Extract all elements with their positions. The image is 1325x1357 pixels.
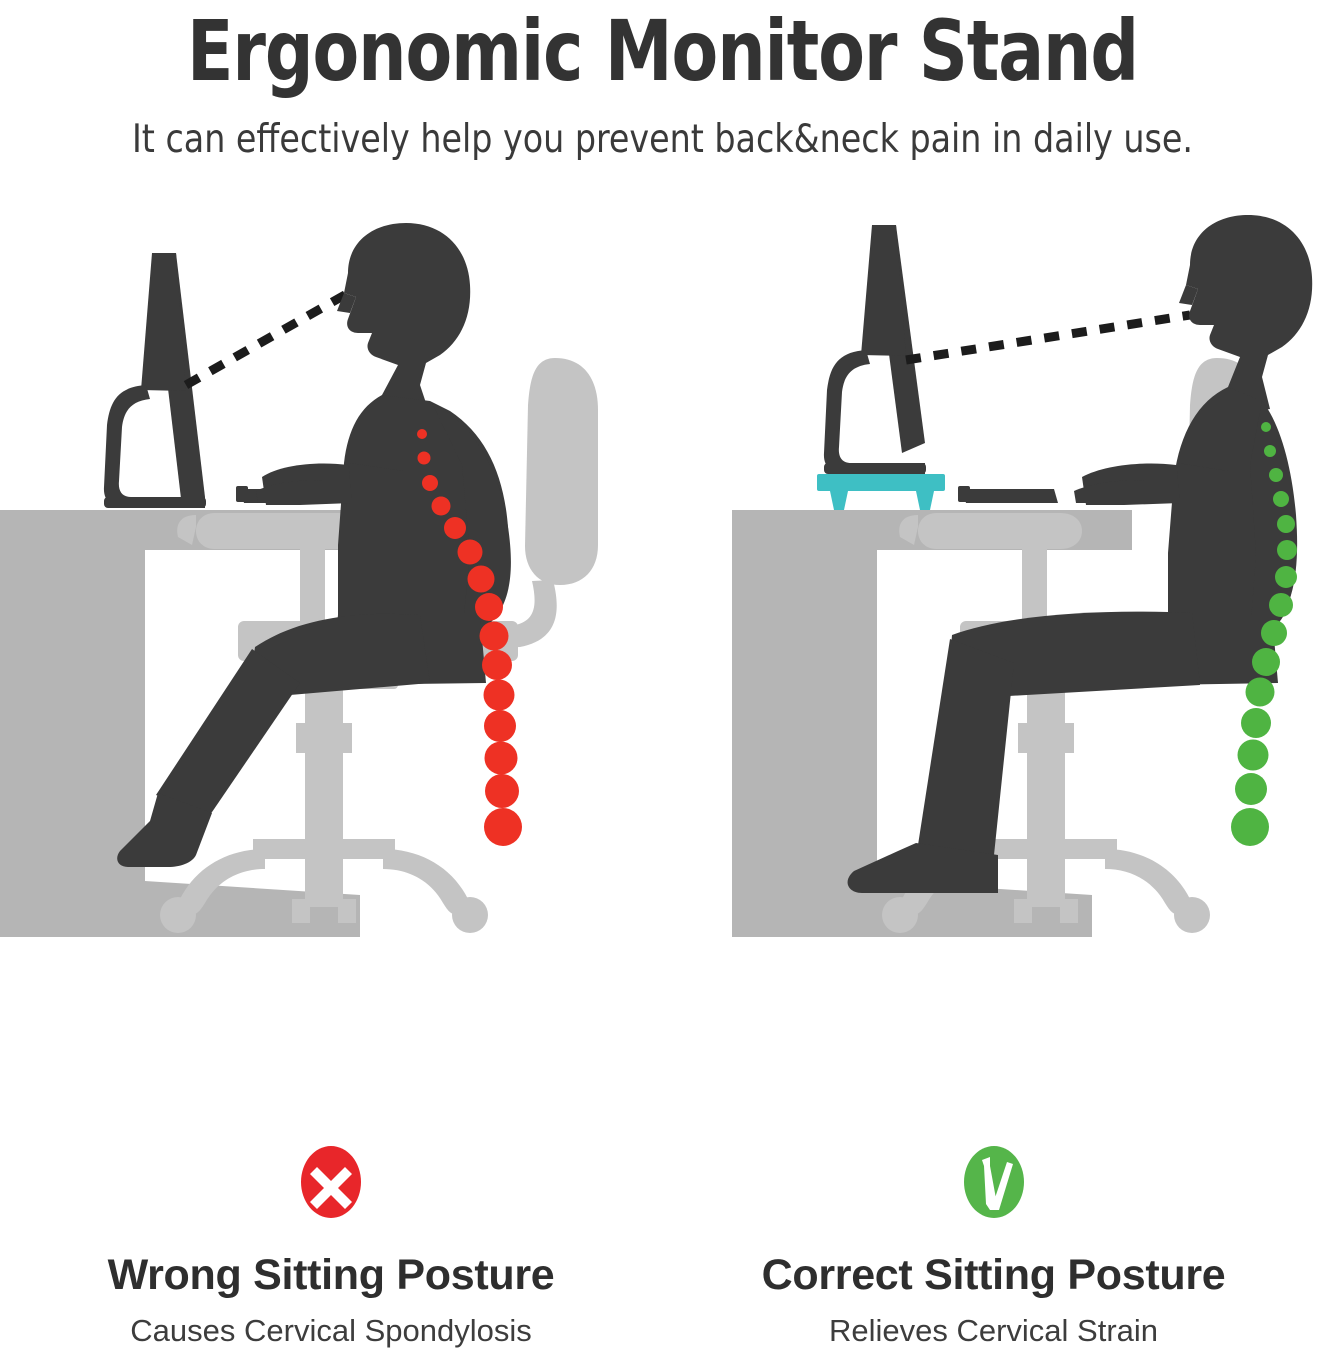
- monitor-silhouette: [824, 225, 926, 474]
- caption-subtitle: Relieves Cervical Strain: [662, 1312, 1325, 1350]
- illustration-row: [0, 215, 1325, 1045]
- caption-row: Wrong Sitting Posture Causes Cervical Sp…: [0, 1128, 1325, 1357]
- page-subtitle: It can effectively help you prevent back…: [33, 116, 1292, 164]
- caption-title: Correct Sitting Posture: [662, 1250, 1325, 1300]
- wrong-posture-caption: Wrong Sitting Posture Causes Cervical Sp…: [0, 1128, 662, 1357]
- wrong-posture-illustration: [0, 215, 662, 1045]
- check-icon: [960, 1142, 1028, 1222]
- correct-posture-caption: Correct Sitting Posture Relieves Cervica…: [662, 1128, 1325, 1357]
- dashed-sight-line: [186, 292, 350, 385]
- page-title: Ergonomic Monitor Stand: [66, 4, 1259, 98]
- caption-title: Wrong Sitting Posture: [0, 1250, 662, 1300]
- keyboard-silhouette: [958, 486, 1058, 503]
- cross-icon: [297, 1142, 365, 1222]
- header: Ergonomic Monitor Stand It can effective…: [0, 0, 1325, 164]
- dashed-sight-line: [906, 315, 1190, 360]
- infographic-page: Ergonomic Monitor Stand It can effective…: [0, 0, 1325, 1357]
- correct-posture-illustration: [662, 215, 1325, 1045]
- caption-subtitle: Causes Cervical Spondylosis: [0, 1312, 662, 1350]
- teal-monitor-riser: [817, 474, 945, 510]
